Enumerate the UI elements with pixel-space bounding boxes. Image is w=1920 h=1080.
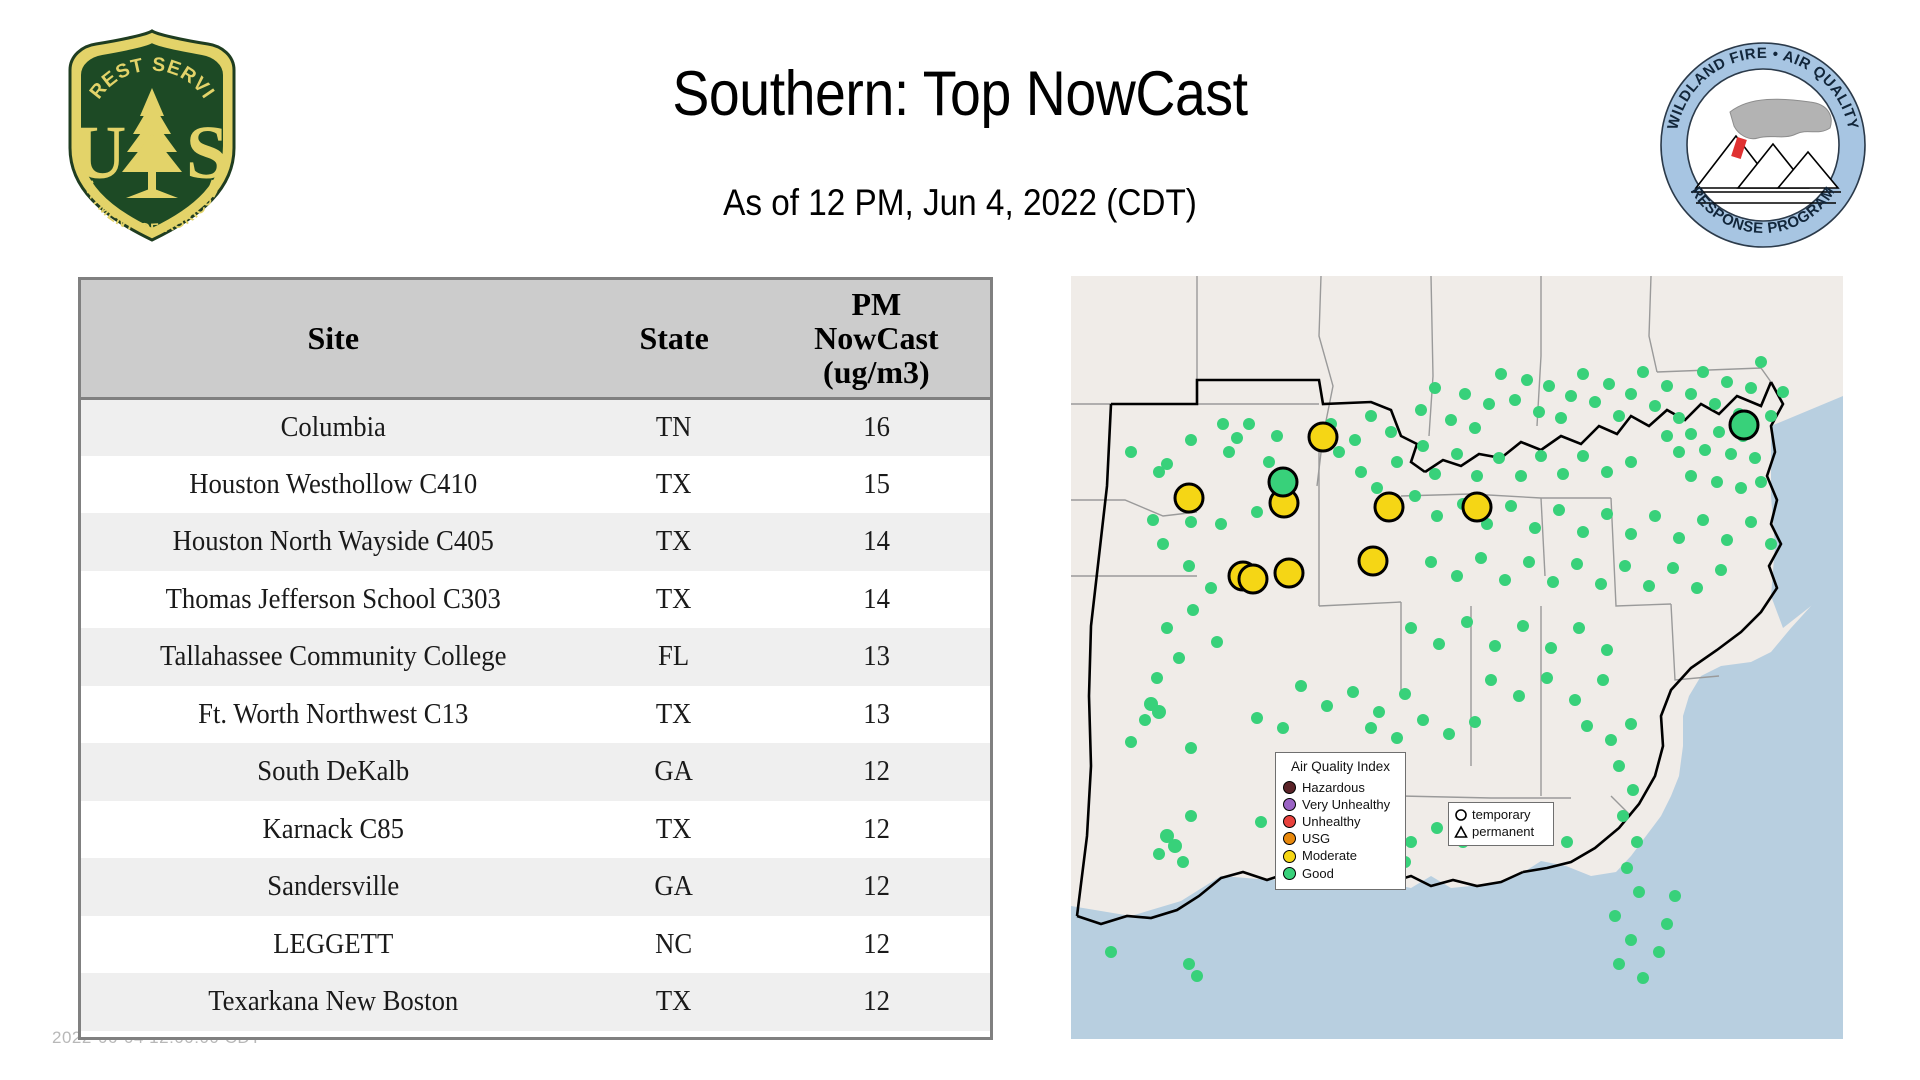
aqi-label-good: Good [1302, 865, 1334, 882]
table-row: Karnack C85 TX 12 [81, 801, 990, 859]
aqi-legend-item-usg: USG [1283, 830, 1398, 847]
aqi-legend-item-good: Good [1283, 865, 1398, 882]
aqi-swatch-usg [1283, 832, 1296, 845]
aqi-label-hazardous: Hazardous [1302, 779, 1365, 796]
cell-site: Karnack C85 [101, 801, 565, 859]
aqi-label-usg: USG [1302, 830, 1330, 847]
aqi-legend-item-unhealthy: Unhealthy [1283, 813, 1398, 830]
cell-site: Houston North Wayside C405 [101, 513, 565, 571]
nowcast-table: Site State PM NowCast (ug/m3) Columbia T… [78, 277, 993, 1040]
circle-icon [1454, 808, 1468, 822]
table-row: LEGGETT NC 12 [81, 916, 990, 974]
cell-state: TX [593, 571, 756, 629]
table-row: Houston North Wayside C405 TX 14 [81, 513, 990, 571]
value-header-line2: NowCast [814, 320, 938, 356]
aqi-swatch-hazardous [1283, 781, 1296, 794]
legend-label-permanent: permanent [1472, 824, 1534, 841]
aqi-swatch-moderate [1283, 850, 1296, 863]
cell-value: 13 [772, 686, 981, 744]
cell-site: LEGGETT [101, 916, 565, 974]
usfs-letter-u: U [72, 111, 127, 195]
value-header-line3: (ug/m3) [823, 354, 930, 390]
column-header-value: PM NowCast (ug/m3) [763, 280, 990, 398]
cell-site: Tallahassee Community College [101, 628, 565, 686]
cell-site: Ft. Worth Northwest C13 [101, 686, 565, 744]
cell-value: 12 [772, 858, 981, 916]
wfaq-program-logo: WILDLAND FIRE • AIR QUALITY RESPONSE PRO… [1658, 40, 1868, 250]
table-body: Columbia TN 16 Houston Westhollow C410 T… [81, 398, 990, 1031]
cell-value: 14 [772, 571, 981, 629]
triangle-icon [1454, 825, 1468, 839]
monitor-type-legend: temporary permanent [1448, 802, 1554, 846]
column-header-site: Site [81, 280, 585, 398]
aqi-swatch-good [1283, 867, 1296, 880]
cell-value: 15 [772, 456, 981, 514]
aqi-swatch-unhealthy [1283, 815, 1296, 828]
page-title: Southern: Top NowCast [379, 58, 1541, 130]
cell-value: 13 [772, 628, 981, 686]
cell-site: Sandersville [101, 858, 565, 916]
page-subtitle: As of 12 PM, Jun 4, 2022 (CDT) [366, 182, 1554, 224]
cell-state: GA [593, 743, 756, 801]
value-header-line1: PM [851, 286, 901, 322]
slide-root: FOREST SERVICE U S DEPARTMENT OF AGRICUL… [0, 0, 1920, 1080]
air-quality-map[interactable] [1071, 276, 1843, 1039]
aqi-legend-item-hazardous: Hazardous [1283, 779, 1398, 796]
aqi-legend: Air Quality Index Hazardous Very Unhealt… [1275, 752, 1406, 890]
table-row: Columbia TN 16 [81, 398, 990, 456]
cell-site: Thomas Jefferson School C303 [101, 571, 565, 629]
usfs-shield-logo: FOREST SERVICE U S DEPARTMENT OF AGRICUL… [52, 28, 252, 243]
aqi-legend-title: Air Quality Index [1283, 758, 1398, 776]
legend-item-temporary: temporary [1454, 807, 1548, 824]
cell-state: NC [593, 916, 756, 974]
aqi-label-moderate: Moderate [1302, 847, 1357, 864]
aqi-swatch-very-unhealthy [1283, 798, 1296, 811]
cell-state: TX [593, 686, 756, 744]
cell-state: TX [593, 513, 756, 571]
table-row: Sandersville GA 12 [81, 858, 990, 916]
aqi-label-unhealthy: Unhealthy [1302, 813, 1361, 830]
aqi-legend-item-very-unhealthy: Very Unhealthy [1283, 796, 1398, 813]
aqi-label-very-unhealthy: Very Unhealthy [1302, 796, 1390, 813]
table-row: Houston Westhollow C410 TX 15 [81, 456, 990, 514]
cell-site: Columbia [101, 398, 565, 456]
cell-site: Texarkana New Boston [101, 973, 565, 1031]
table-header-row: Site State PM NowCast (ug/m3) [81, 280, 990, 398]
cell-value: 12 [772, 743, 981, 801]
cell-site: Houston Westhollow C410 [101, 456, 565, 514]
cell-value: 14 [772, 513, 981, 571]
cell-value: 12 [772, 973, 981, 1031]
cell-state: TX [593, 973, 756, 1031]
cell-state: TX [593, 456, 756, 514]
cell-site: South DeKalb [101, 743, 565, 801]
table-row: Tallahassee Community College FL 13 [81, 628, 990, 686]
cell-state: TN [593, 398, 756, 456]
table-row: Ft. Worth Northwest C13 TX 13 [81, 686, 990, 744]
cell-state: GA [593, 858, 756, 916]
table-row: Thomas Jefferson School C303 TX 14 [81, 571, 990, 629]
table-row: South DeKalb GA 12 [81, 743, 990, 801]
legend-label-temporary: temporary [1472, 807, 1531, 824]
cell-value: 12 [772, 916, 981, 974]
aqi-legend-item-moderate: Moderate [1283, 847, 1398, 864]
legend-item-permanent: permanent [1454, 824, 1548, 841]
cell-state: FL [593, 628, 756, 686]
cell-state: TX [593, 801, 756, 859]
cell-value: 16 [772, 398, 981, 456]
cell-value: 12 [772, 801, 981, 859]
table-row: Texarkana New Boston TX 12 [81, 973, 990, 1031]
column-header-state: State [585, 280, 762, 398]
